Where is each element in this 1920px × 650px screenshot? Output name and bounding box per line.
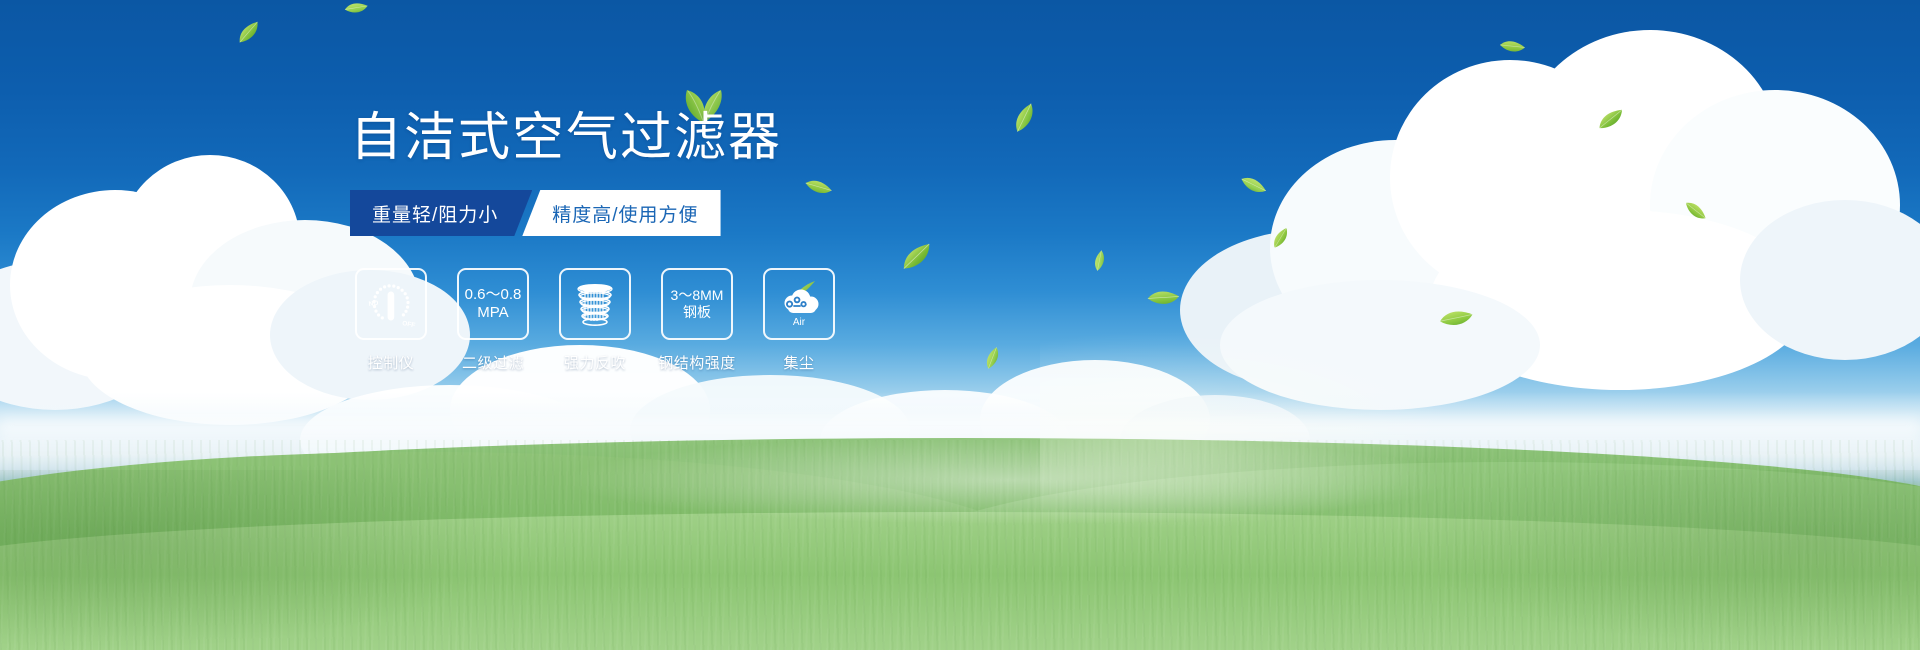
svg-text:NO: NO [368, 300, 379, 308]
feature-icon-box: 0.6～0.8 MPA [457, 268, 529, 340]
feature-icon-box: 3～8MM 钢板 [661, 268, 733, 340]
feature-icon-box [559, 268, 631, 340]
page-title: 自洁式空气过滤器 [350, 112, 782, 164]
feature-label: 强力反吹 [564, 352, 626, 373]
feature-strong-backblow[interactable]: 强力反吹 [559, 268, 631, 373]
product-banner: 自洁式空气过滤器 重量轻/阻力小 精度高/使用方便 [0, 0, 1920, 650]
feature-icon-row: NO OFF 控制仪 0.6～0.8 MPA 二级过滤 [355, 268, 835, 373]
air-label: Air [793, 317, 806, 328]
badge-high-precision-easy-use[interactable]: 精度高/使用方便 [522, 190, 720, 236]
feature-label: 集尘 [783, 352, 814, 373]
badge-lightweight-low-resistance[interactable]: 重量轻/阻力小 [350, 190, 532, 236]
feature-dust-collection[interactable]: Air 集尘 [763, 268, 835, 373]
banner-content: 自洁式空气过滤器 重量轻/阻力小 精度高/使用方便 [0, 0, 1920, 650]
feature-label: 控制仪 [368, 352, 415, 373]
feature-icon-box: NO OFF [355, 268, 427, 340]
filter-cartridge-icon [566, 275, 624, 333]
pressure-text-icon: 0.6～0.8 MPA [463, 286, 524, 321]
feature-label: 钢结构强度 [658, 352, 736, 373]
feature-two-stage-filtration[interactable]: 0.6～0.8 MPA 二级过滤 [457, 268, 529, 373]
feature-label: 二级过滤 [462, 352, 524, 373]
svg-text:OFF: OFF [402, 320, 416, 329]
control-dial-icon: NO OFF [362, 275, 420, 333]
feature-steel-structure-strength[interactable]: 3～8MM 钢板 钢结构强度 [661, 268, 733, 373]
air-cloud-icon: Air [770, 275, 828, 333]
steel-plate-text-icon: 3～8MM 钢板 [669, 287, 726, 320]
feature-control-instrument[interactable]: NO OFF 控制仪 [355, 268, 427, 373]
badge-row: 重量轻/阻力小 精度高/使用方便 [350, 190, 721, 236]
feature-icon-box: Air [763, 268, 835, 340]
